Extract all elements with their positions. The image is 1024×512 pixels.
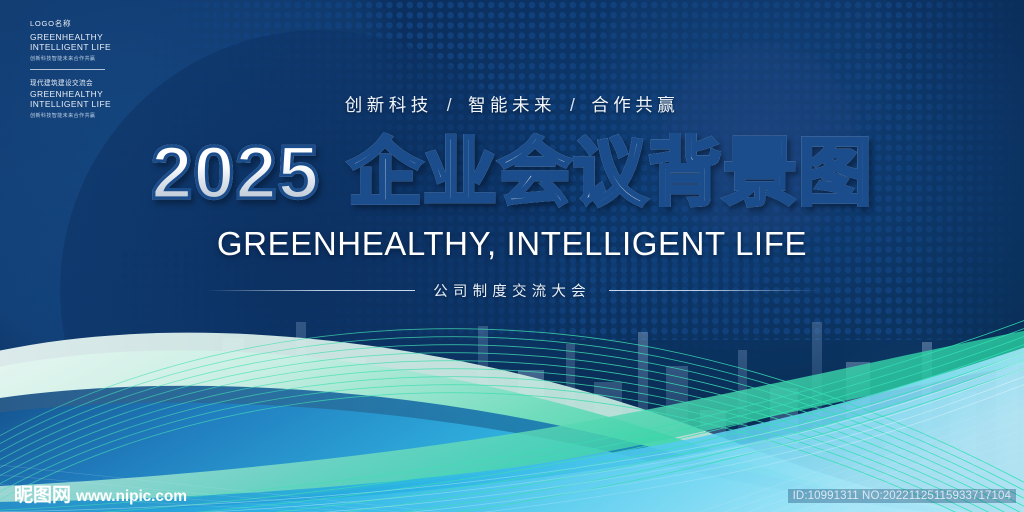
title-main-text: 企业会议背景图 [348,131,873,214]
watermark-brand-cn: 昵图网 [14,486,71,506]
page-title: 2025企业会议背景图 [0,133,1024,213]
kicker-segment-1: 创新科技 [345,92,433,117]
tagline-rule-left [205,290,415,291]
hero-tagline-row: 公司制度交流大会 [0,280,1024,301]
kicker-segment-3: 合作共赢 [591,92,679,117]
hero-kicker: 创新科技/智能未来/合作共赢 [0,92,1024,117]
poster-canvas: LOGO名称 GREENHEALTHY INTELLIGENT LIFE 创新科… [0,0,1024,512]
footer-watermark-bar: 昵图网 www.nipic.com ID:10991311 NO:2022112… [0,478,1024,512]
kicker-separator-2: / [570,95,577,115]
kicker-segment-2: 智能未来 [468,92,556,117]
image-id-label: ID:10991311 NO:20221125115933717104 [788,489,1016,503]
hero-tagline: 公司制度交流大会 [433,280,591,301]
watermark-brand: 昵图网 www.nipic.com [14,486,187,506]
tagline-rule-right [609,290,819,291]
watermark-url: www.nipic.com [76,488,187,506]
hero-content: 创新科技/智能未来/合作共赢 2025企业会议背景图 GREENHEALTHY,… [0,0,1024,301]
kicker-separator-1: / [447,95,454,115]
title-year: 2025 [151,131,320,214]
hero-subtitle-english: GREENHEALTHY, INTELLIGENT LIFE [0,225,1024,263]
